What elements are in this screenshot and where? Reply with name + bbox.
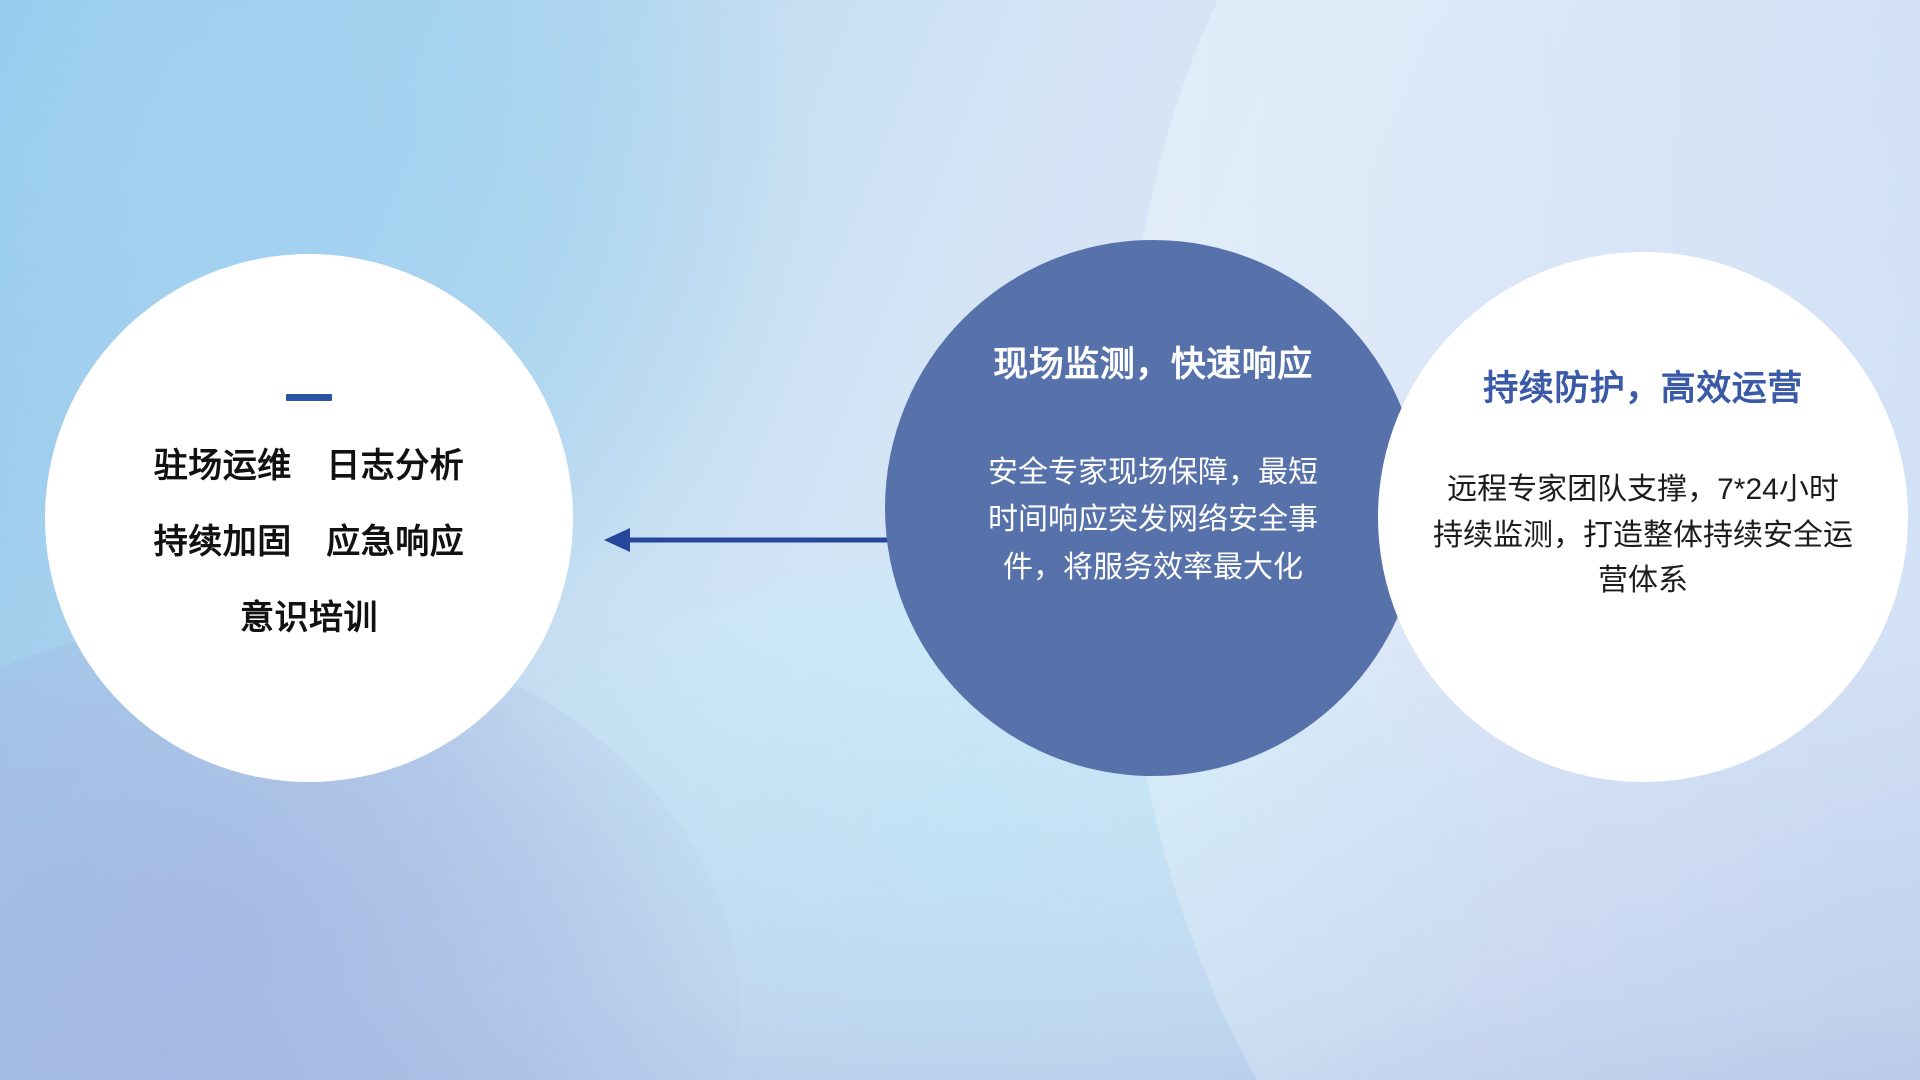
left-capability-circle: 驻场运维 日志分析 持续加固 应急响应 意识培训: [45, 254, 573, 782]
right-circle-body: 远程专家团队支撑，7*24小时持续监测，打造整体持续安全运营体系: [1433, 467, 1853, 604]
left-circle-line-2: 持续加固 应急响应: [45, 525, 573, 559]
right-circle-heading: 持续防护，高效运营: [1378, 360, 1908, 411]
left-circle-line-1: 驻场运维 日志分析: [45, 449, 573, 483]
middle-circle-body: 安全专家现场保障，最短时间响应突发网络安全事件，将服务效率最大化: [988, 449, 1318, 591]
left-circle-line-3: 意识培训: [45, 601, 573, 635]
arrow-left-icon: [600, 520, 890, 560]
left-circle-content: 驻场运维 日志分析 持续加固 应急响应 意识培训: [45, 254, 573, 635]
accent-divider: [286, 394, 332, 401]
slide-canvas: 驻场运维 日志分析 持续加固 应急响应 意识培训 现场监测，快速响应 安全专家现…: [0, 0, 1920, 1080]
middle-circle-heading: 现场监测，快速响应: [885, 336, 1421, 387]
right-operations-circle: 持续防护，高效运营 远程专家团队支撑，7*24小时持续监测，打造整体持续安全运营…: [1378, 252, 1908, 782]
middle-onsite-circle: 现场监测，快速响应 安全专家现场保障，最短时间响应突发网络安全事件，将服务效率最…: [885, 240, 1421, 776]
